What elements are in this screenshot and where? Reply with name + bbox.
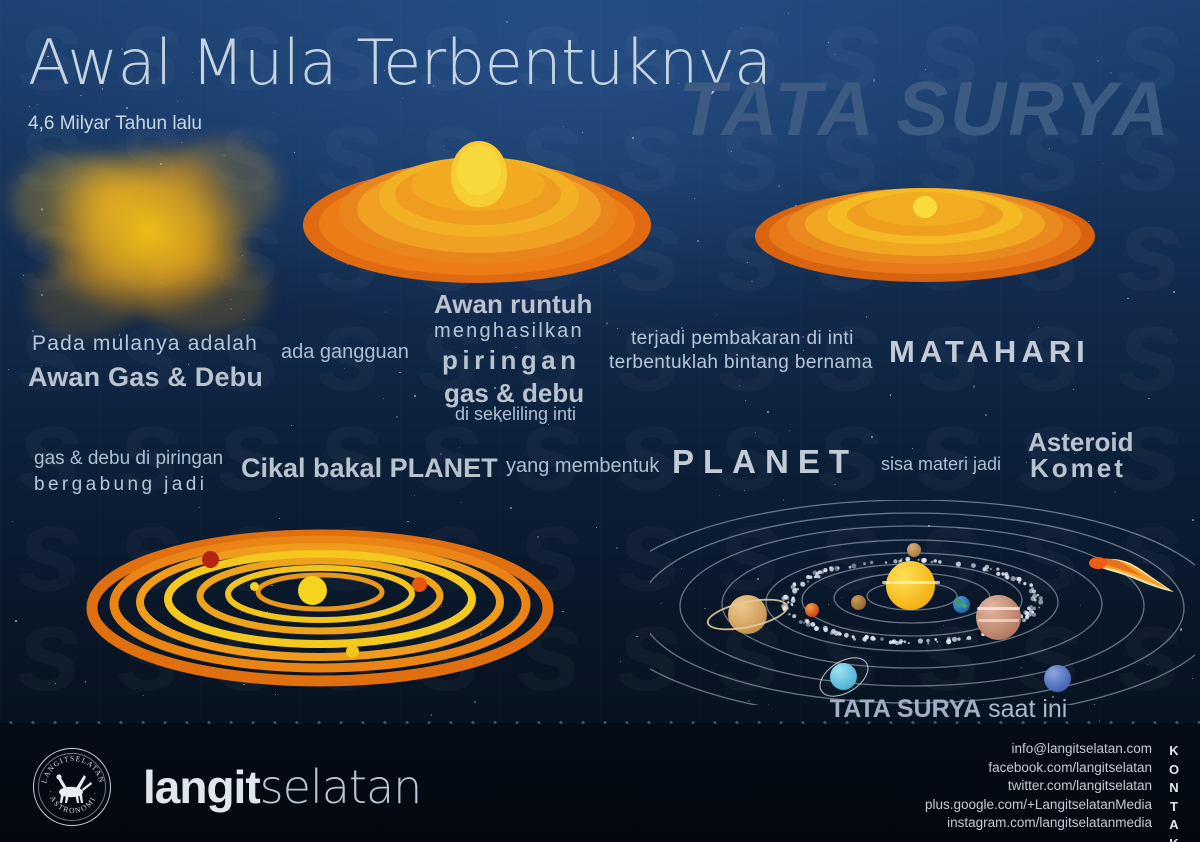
protoplanetary-disk-1 bbox=[303, 143, 651, 288]
watermark-letter: s bbox=[100, 400, 200, 500]
star bbox=[383, 398, 384, 399]
star bbox=[757, 578, 759, 580]
star bbox=[242, 255, 243, 256]
watermark-letter: s bbox=[1100, 400, 1200, 500]
star bbox=[973, 385, 975, 387]
watermark-letter: s bbox=[400, 200, 500, 300]
star bbox=[545, 472, 546, 473]
step10-line1: Asteroid bbox=[1028, 427, 1133, 458]
contact-line[interactable]: facebook.com/langitselatan bbox=[925, 759, 1152, 778]
asteroid bbox=[792, 614, 796, 618]
star bbox=[748, 700, 750, 702]
star bbox=[944, 234, 945, 235]
asteroid bbox=[1011, 576, 1016, 581]
star bbox=[85, 681, 87, 683]
star bbox=[548, 424, 550, 426]
star bbox=[922, 574, 924, 576]
star bbox=[1127, 298, 1129, 300]
star bbox=[943, 625, 944, 626]
watermark-letter: s bbox=[100, 200, 200, 300]
watermark-letter: s bbox=[700, 400, 800, 500]
watermark-letter: s bbox=[300, 300, 400, 400]
asteroid bbox=[1032, 589, 1036, 593]
star bbox=[80, 95, 81, 96]
page-title: Awal Mula Terbentuknya bbox=[28, 26, 772, 99]
asteroid bbox=[1027, 612, 1032, 617]
protoplanet-yellow bbox=[346, 645, 359, 658]
asteroid bbox=[995, 631, 1000, 636]
asteroid bbox=[814, 626, 819, 631]
diagram-caption-bold: TATA SURYA bbox=[830, 695, 981, 723]
diagram-caption-thin: saat ini bbox=[988, 695, 1067, 723]
asteroid bbox=[793, 582, 796, 585]
star bbox=[783, 252, 784, 253]
star bbox=[704, 608, 706, 610]
star bbox=[755, 432, 756, 433]
asteroid bbox=[844, 633, 849, 638]
asteroid bbox=[1023, 610, 1028, 615]
watermark-letter: s bbox=[700, 600, 800, 700]
asteroid bbox=[899, 560, 901, 562]
star bbox=[1074, 453, 1075, 454]
asteroid bbox=[901, 560, 903, 562]
star bbox=[496, 84, 498, 86]
star bbox=[291, 425, 293, 427]
watermark-letter: s bbox=[800, 600, 900, 700]
star bbox=[302, 567, 303, 568]
star bbox=[500, 420, 502, 422]
star bbox=[731, 151, 732, 152]
asteroid bbox=[853, 638, 856, 641]
asteroid bbox=[903, 641, 905, 643]
asteroid bbox=[981, 633, 985, 637]
star bbox=[516, 577, 517, 578]
asteroid bbox=[1017, 577, 1022, 582]
star bbox=[636, 636, 638, 638]
step4-line2: terbentuklah bintang bernama bbox=[609, 352, 873, 374]
star bbox=[41, 365, 42, 366]
asteroid bbox=[783, 595, 787, 599]
contact-line[interactable]: instagram.com/langitselatanmedia bbox=[925, 814, 1152, 833]
step1-line2: Awan Gas & Debu bbox=[28, 362, 263, 393]
logo-wordmark[interactable]: langitselatan bbox=[143, 760, 421, 814]
star bbox=[819, 631, 820, 632]
kontak-label: KONTAK bbox=[1165, 742, 1183, 842]
asteroid bbox=[1029, 589, 1033, 593]
star bbox=[396, 416, 398, 418]
asteroid bbox=[899, 641, 903, 645]
asteroid bbox=[794, 588, 796, 590]
star bbox=[433, 85, 434, 86]
star bbox=[873, 79, 875, 81]
saturn-ring bbox=[704, 593, 791, 637]
asteroid bbox=[824, 628, 828, 632]
watermark-letter: s bbox=[500, 500, 600, 600]
uranus-ring bbox=[813, 649, 876, 705]
disk3-rings bbox=[85, 520, 555, 690]
asteroid bbox=[885, 561, 887, 563]
star bbox=[925, 69, 926, 70]
asteroid bbox=[821, 570, 824, 573]
contact-line[interactable]: twitter.com/langitselatan bbox=[925, 777, 1152, 796]
asteroid bbox=[1023, 582, 1026, 585]
watermark-letter: s bbox=[0, 200, 100, 300]
watermark-letter: s bbox=[500, 300, 600, 400]
solar-system-diagram bbox=[650, 500, 1195, 705]
asteroid bbox=[829, 567, 834, 572]
star bbox=[747, 262, 748, 263]
watermark-letter: s bbox=[600, 100, 700, 200]
watermark-letter: s bbox=[1100, 100, 1200, 200]
star bbox=[891, 258, 892, 259]
asteroid bbox=[792, 589, 797, 594]
asteroid bbox=[931, 561, 934, 564]
asteroid bbox=[1031, 596, 1036, 601]
watermark-letter: s bbox=[600, 200, 700, 300]
asteroid bbox=[1038, 600, 1043, 605]
earth-landmass-2 bbox=[962, 604, 967, 608]
star bbox=[126, 107, 128, 109]
star bbox=[1170, 329, 1171, 330]
star bbox=[160, 163, 161, 164]
protoplanetary-disk-2-sun bbox=[755, 180, 1095, 286]
asteroid bbox=[787, 601, 789, 603]
step7-label: yang membentuk bbox=[506, 455, 659, 478]
solar-system-orbits bbox=[650, 500, 1195, 705]
star bbox=[739, 385, 740, 386]
asteroid bbox=[981, 632, 985, 636]
step4-label-matahari: MATAHARI bbox=[889, 334, 1090, 370]
asteroid bbox=[893, 559, 897, 563]
contact-list: info@langitselatan.comfacebook.com/langi… bbox=[925, 740, 1152, 833]
star bbox=[23, 275, 24, 276]
asteroid bbox=[797, 588, 799, 590]
asteroid bbox=[936, 641, 938, 643]
star bbox=[828, 42, 829, 43]
asteroid bbox=[947, 637, 951, 641]
asteroid bbox=[783, 606, 788, 611]
asteroid bbox=[918, 638, 923, 643]
asteroid bbox=[938, 560, 942, 564]
asteroid bbox=[813, 624, 815, 626]
star bbox=[352, 570, 354, 572]
asteroid bbox=[927, 642, 929, 644]
star bbox=[402, 98, 403, 99]
star bbox=[1192, 678, 1194, 680]
asteroid bbox=[1025, 611, 1029, 615]
asteroid bbox=[792, 597, 795, 600]
star bbox=[783, 499, 784, 500]
asteroid bbox=[865, 635, 869, 639]
logo-badge[interactable]: LANGITSELATAN · ASTRONOMI · bbox=[33, 748, 111, 826]
star bbox=[178, 664, 179, 665]
step10-line2: Komet bbox=[1030, 453, 1126, 484]
asteroid bbox=[967, 636, 971, 640]
watermark-letter: s bbox=[400, 600, 500, 700]
asteroid bbox=[816, 572, 820, 576]
sun-band bbox=[882, 581, 940, 584]
watermark-letter: s bbox=[700, 100, 800, 200]
asteroid bbox=[1030, 605, 1033, 608]
star bbox=[660, 603, 662, 605]
watermark-letter: s bbox=[100, 600, 200, 700]
asteroid bbox=[1029, 583, 1033, 587]
watermark-letter: s bbox=[200, 600, 300, 700]
star bbox=[563, 126, 564, 127]
star bbox=[121, 48, 123, 50]
star bbox=[618, 203, 620, 205]
star bbox=[431, 714, 432, 715]
asteroid bbox=[956, 562, 961, 567]
asteroid bbox=[1006, 576, 1010, 580]
star bbox=[912, 448, 913, 449]
asteroid bbox=[792, 588, 796, 592]
star bbox=[29, 106, 30, 107]
asteroid bbox=[870, 636, 875, 641]
asteroid bbox=[908, 642, 910, 644]
asteroid bbox=[791, 585, 795, 589]
watermark-letter: s bbox=[1000, 500, 1100, 600]
asteroid bbox=[813, 570, 818, 575]
logo-word-thin: selatan bbox=[260, 760, 422, 814]
star bbox=[527, 590, 528, 591]
asteroid-belt bbox=[650, 500, 1195, 705]
star bbox=[443, 146, 444, 147]
asteroid bbox=[830, 631, 834, 635]
star bbox=[243, 319, 244, 320]
watermark-letter: s bbox=[700, 500, 800, 600]
star bbox=[1110, 72, 1112, 74]
star bbox=[188, 364, 189, 365]
star bbox=[1094, 704, 1096, 706]
asteroid bbox=[1025, 615, 1029, 619]
watermark-letter: s bbox=[900, 200, 1000, 300]
star bbox=[1143, 109, 1144, 110]
asteroid bbox=[969, 638, 971, 640]
watermark-letter: s bbox=[200, 500, 300, 600]
watermark-letter: s bbox=[800, 200, 900, 300]
asteroid bbox=[805, 619, 809, 623]
star bbox=[606, 322, 608, 324]
star bbox=[1006, 229, 1007, 230]
asteroid bbox=[926, 639, 929, 642]
star bbox=[1026, 462, 1027, 463]
asteroid bbox=[785, 597, 788, 600]
asteroid bbox=[817, 575, 820, 578]
star bbox=[751, 281, 753, 283]
sagittarius-figure bbox=[56, 774, 92, 803]
asteroid bbox=[992, 632, 994, 634]
step3-line5: di sekeliling inti bbox=[455, 404, 576, 425]
asteroid bbox=[873, 638, 876, 641]
watermark-letter: s bbox=[900, 600, 1000, 700]
asteroid bbox=[906, 559, 908, 561]
watermark-letter: s bbox=[300, 600, 400, 700]
asteroid bbox=[895, 641, 899, 645]
asteroid bbox=[834, 631, 839, 636]
star bbox=[494, 387, 495, 388]
star bbox=[294, 152, 295, 153]
planet-jupiter bbox=[976, 595, 1021, 640]
watermark-letter: s bbox=[900, 100, 1000, 200]
planet-uranus bbox=[830, 663, 857, 690]
asteroid bbox=[791, 598, 796, 603]
watermark-letter: s bbox=[500, 400, 600, 500]
asteroid bbox=[829, 566, 834, 571]
asteroid bbox=[785, 607, 787, 609]
star bbox=[32, 330, 34, 332]
watermark-letter: s bbox=[400, 500, 500, 600]
asteroid bbox=[922, 558, 926, 562]
asteroid bbox=[818, 570, 822, 574]
watermark-letter: s bbox=[500, 600, 600, 700]
star bbox=[441, 606, 442, 607]
watermark-letter: s bbox=[700, 300, 800, 400]
asteroid bbox=[781, 596, 784, 599]
asteroid bbox=[996, 568, 999, 571]
watermark-letter: s bbox=[900, 300, 1000, 400]
asteroid bbox=[873, 639, 875, 641]
step3-line1: Awan runtuh bbox=[434, 289, 592, 320]
watermark-letter: s bbox=[900, 500, 1000, 600]
star bbox=[282, 468, 283, 469]
asteroid bbox=[1001, 572, 1004, 575]
asteroid bbox=[806, 575, 810, 579]
asteroid bbox=[839, 633, 842, 636]
star bbox=[455, 468, 457, 470]
star bbox=[1080, 605, 1081, 606]
step1-line1: Pada mulanya adalah bbox=[32, 332, 258, 356]
star bbox=[48, 343, 50, 345]
asteroid bbox=[1016, 577, 1020, 581]
asteroid bbox=[933, 559, 937, 563]
star bbox=[741, 28, 742, 29]
star bbox=[438, 604, 439, 605]
watermark-letter: s bbox=[200, 0, 300, 100]
watermark-letter: s bbox=[500, 0, 600, 100]
asteroid bbox=[1004, 574, 1009, 579]
star bbox=[273, 112, 274, 113]
asteroid bbox=[1011, 623, 1015, 627]
watermark-letter: s bbox=[0, 500, 100, 600]
star bbox=[488, 229, 489, 230]
star bbox=[1173, 291, 1175, 293]
asteroid bbox=[905, 557, 910, 562]
kontak-letter: O bbox=[1165, 761, 1183, 780]
watermark-letter: s bbox=[1100, 200, 1200, 300]
watermark-letter: s bbox=[300, 0, 400, 100]
asteroid bbox=[922, 561, 925, 564]
star bbox=[811, 512, 812, 513]
star bbox=[719, 495, 720, 496]
star bbox=[191, 620, 192, 621]
step4-line1: terjadi pembakaran di inti bbox=[631, 328, 854, 350]
asteroid bbox=[1027, 607, 1031, 611]
star bbox=[778, 185, 780, 187]
star bbox=[928, 525, 930, 527]
asteroid bbox=[999, 626, 1002, 629]
asteroid bbox=[786, 607, 789, 610]
watermark-letter: s bbox=[300, 200, 400, 300]
star bbox=[582, 132, 583, 133]
star bbox=[275, 694, 276, 695]
watermark-letter: s bbox=[0, 0, 100, 100]
watermark-letter: s bbox=[800, 300, 900, 400]
star bbox=[596, 527, 597, 528]
star bbox=[681, 327, 683, 329]
watermark-letter: s bbox=[100, 500, 200, 600]
kontak-letter: K bbox=[1165, 835, 1183, 842]
asteroid bbox=[892, 639, 897, 644]
asteroid bbox=[986, 570, 988, 572]
star bbox=[55, 683, 56, 684]
star bbox=[890, 394, 891, 395]
watermark-letter: s bbox=[1000, 100, 1100, 200]
asteroid bbox=[810, 622, 815, 627]
asteroid bbox=[1039, 596, 1043, 600]
watermark-letter: s bbox=[200, 100, 300, 200]
star bbox=[161, 282, 163, 284]
asteroid bbox=[809, 576, 812, 579]
asteroid bbox=[1019, 614, 1023, 618]
kontak-letter: A bbox=[1165, 816, 1183, 835]
star bbox=[834, 54, 835, 55]
asteroid bbox=[784, 595, 789, 600]
protoplanet-orange bbox=[412, 577, 427, 592]
asteroid bbox=[1032, 612, 1036, 616]
watermark-letter: s bbox=[0, 400, 100, 500]
planet-mars bbox=[805, 603, 819, 617]
watermark-letter: s bbox=[1000, 300, 1100, 400]
asteroid bbox=[1029, 608, 1033, 612]
star bbox=[1097, 60, 1099, 62]
footer-divider bbox=[0, 721, 1200, 724]
star bbox=[1143, 561, 1145, 563]
asteroid bbox=[1027, 613, 1029, 615]
star bbox=[866, 316, 867, 317]
asteroid bbox=[837, 632, 841, 636]
star bbox=[828, 604, 830, 606]
asteroid bbox=[922, 558, 927, 563]
starfield bbox=[0, 0, 1200, 842]
watermark-letter: s bbox=[800, 400, 900, 500]
contact-line[interactable]: info@langitselatan.com bbox=[925, 740, 1152, 759]
watermark-letter: s bbox=[200, 300, 300, 400]
star bbox=[537, 536, 539, 538]
watermark-letter: s bbox=[500, 100, 600, 200]
star bbox=[1021, 667, 1022, 668]
star bbox=[983, 704, 984, 705]
contact-line[interactable]: plus.google.com/+LangitselatanMedia bbox=[925, 796, 1152, 815]
star bbox=[841, 597, 843, 599]
asteroid bbox=[1032, 594, 1037, 599]
asteroid bbox=[995, 631, 999, 635]
star bbox=[834, 484, 835, 485]
watermark-letter: s bbox=[1100, 500, 1200, 600]
asteroid bbox=[982, 567, 986, 571]
star bbox=[384, 580, 385, 581]
watermark-letter: s bbox=[800, 100, 900, 200]
asteroid bbox=[957, 637, 960, 640]
watermark-letter: s bbox=[800, 500, 900, 600]
watermark-letter: s bbox=[1000, 400, 1100, 500]
asteroid bbox=[990, 568, 992, 570]
comet-icon bbox=[1088, 552, 1178, 596]
kontak-letter: N bbox=[1165, 779, 1183, 798]
star bbox=[614, 270, 615, 271]
earth-landmass bbox=[955, 599, 962, 605]
asteroid bbox=[889, 640, 893, 644]
